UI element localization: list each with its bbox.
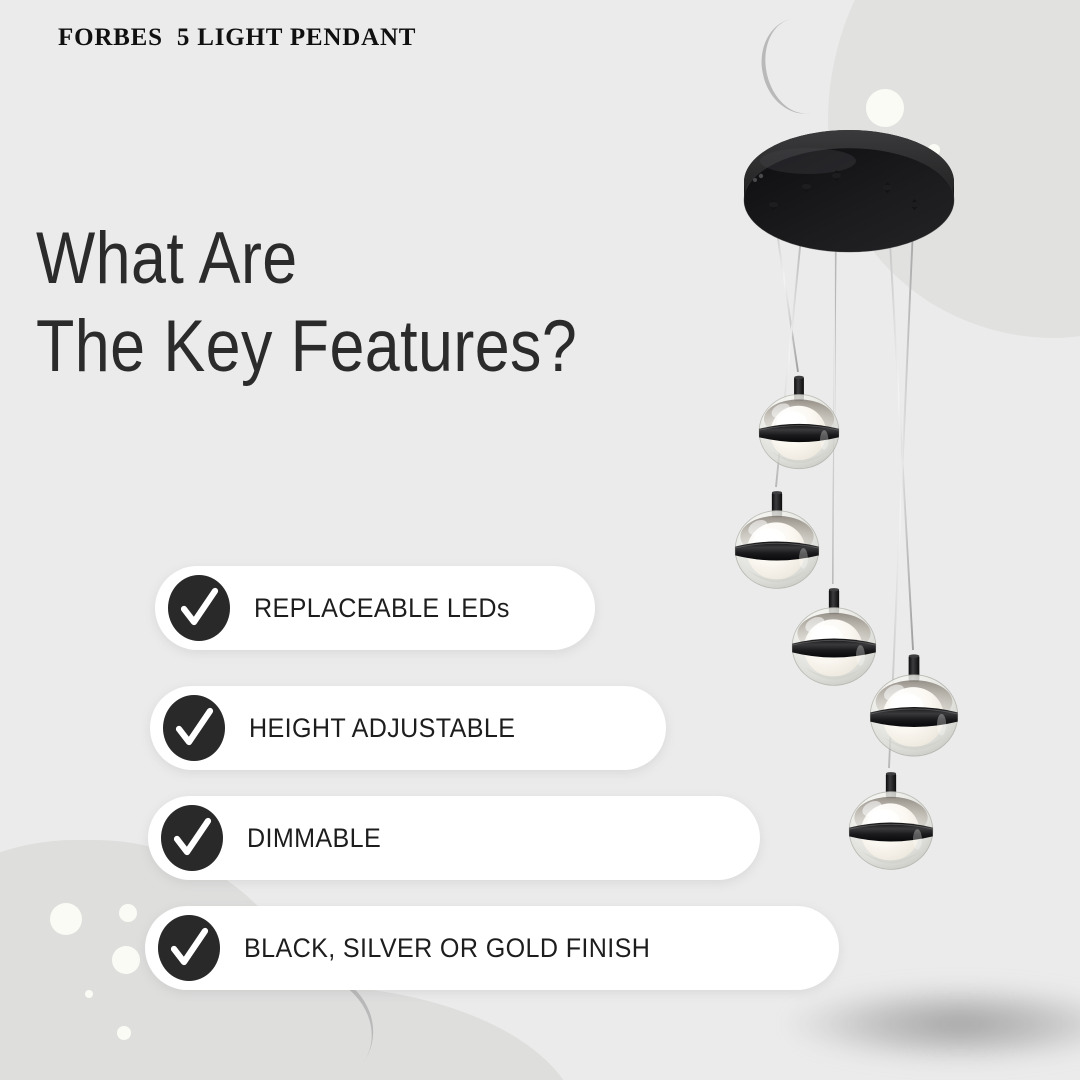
feature-label: BLACK, SILVER OR GOLD FINISH bbox=[244, 933, 650, 964]
feature-pill-replaceable-leds[interactable]: REPLACEABLE LEDs bbox=[155, 566, 595, 650]
pendant-globe-4 bbox=[870, 654, 957, 756]
check-icon bbox=[158, 915, 220, 981]
page-headline: What Are The Key Features? bbox=[36, 215, 577, 391]
pendant-globe-1 bbox=[759, 376, 839, 469]
feature-pill-dimmable[interactable]: DIMMABLE bbox=[148, 796, 760, 880]
ceiling-canopy bbox=[744, 130, 954, 252]
feature-label: REPLACEABLE LEDs bbox=[254, 593, 510, 624]
check-icon bbox=[163, 695, 225, 761]
pendant-globe-5 bbox=[849, 772, 933, 869]
feature-pill-finish-options[interactable]: BLACK, SILVER OR GOLD FINISH bbox=[145, 906, 839, 990]
feature-label: DIMMABLE bbox=[247, 823, 381, 854]
check-icon bbox=[168, 575, 230, 641]
feature-label: HEIGHT ADJUSTABLE bbox=[249, 713, 515, 744]
brand-title: FORBES 5 LIGHT PENDANT bbox=[58, 24, 416, 52]
pendant-globe-3 bbox=[792, 588, 876, 685]
poster-canvas: FORBES 5 LIGHT PENDANT What Are The Key … bbox=[0, 0, 1080, 1080]
headline-line-2: The Key Features? bbox=[36, 303, 577, 391]
headline-line-1: What Are bbox=[36, 215, 577, 303]
check-icon bbox=[161, 805, 223, 871]
feature-pill-height-adjustable[interactable]: HEIGHT ADJUSTABLE bbox=[150, 686, 666, 770]
pendant-globe-2 bbox=[735, 491, 819, 588]
